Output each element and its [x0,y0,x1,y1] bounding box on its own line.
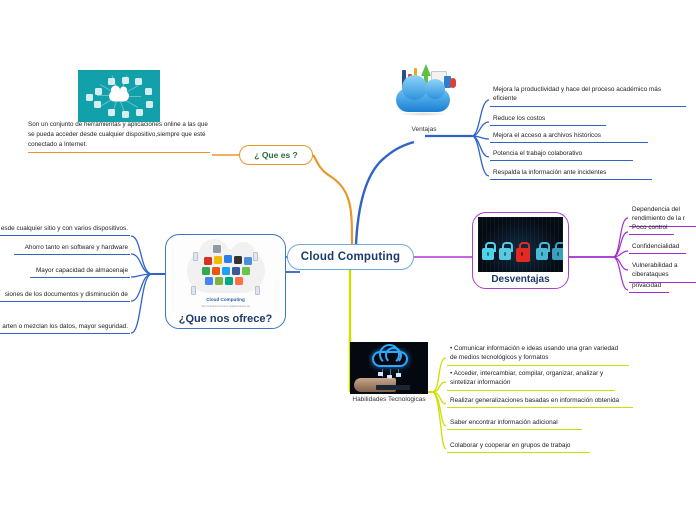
ventajas-item-5[interactable]: Respalda la información ante incidentes [490,168,652,180]
habilidades-item-3[interactable]: Realizar generalizaciones basadas en inf… [447,396,633,408]
habilidades-item-1[interactable]: • Comunicar información e ideas usando u… [447,344,629,366]
desventajas-item-3[interactable]: Confidencialidad [629,242,686,254]
ventajas-caption: Ventajas [412,126,437,133]
ventajas-item-1[interactable]: Mejora la productividad y hace del proce… [490,85,686,107]
ventajas-item-2[interactable]: Reduce los costos [490,114,606,126]
ventajas-image-node[interactable]: Ventajas [388,62,460,133]
que-nos-ofrece-item-1[interactable]: esde cualquier sitio y con varios dispos… [0,224,130,236]
red-padlock-security-image [478,217,563,272]
app-icons-cloud-image: Cloud Computing http://creativecommons.o… [171,239,281,311]
central-node[interactable]: Cloud Computing [287,244,414,270]
habilidades-image-node[interactable]: Habilidades Tecnologicas [350,342,428,403]
habilidades-item-4[interactable]: Saber encontrar información adicional [447,418,582,430]
app-image-inner-sub: http://creativecommons.org/licenses/by-s… [171,305,281,308]
habilidades-caption: Habilidades Tecnologicas [352,396,425,403]
branch-node-desventajas[interactable]: Desventajas [472,212,569,289]
ventajas-item-4[interactable]: Potencia el trabajo colaborativo [490,149,633,161]
blue-glossy-cloud-image [388,62,460,124]
branch-node-que-es[interactable]: ¿ Que es ? [239,145,313,165]
branch-node-que-nos-ofrece[interactable]: Cloud Computing http://creativecommons.o… [165,234,286,329]
teal-cloud-network-image [78,70,160,122]
habilidades-item-5[interactable]: Colaborar y cooperar en grupos de trabaj… [447,441,590,453]
que-nos-ofrece-item-2[interactable]: Ahorro tanto en software y hardware [14,243,130,255]
que-nos-ofrece-item-4[interactable]: siones de los documentos y disminución d… [0,290,130,302]
desventajas-item-5[interactable]: privacidad [629,281,669,293]
desventajas-item-4[interactable]: Vulnerabilidad a ciberataques [629,261,696,283]
desventajas-caption: Desventajas [491,274,549,285]
branch-label-que-es: ¿ Que es ? [254,150,297,160]
tablet-neon-cloud-image [350,342,428,394]
que-es-note-text: Son un conjunto de herramientas y aplica… [28,120,210,153]
ventajas-item-3[interactable]: Mejora el acceso a archivos históricos [490,131,648,143]
mindmap-canvas: Cloud Computing Son [0,0,696,520]
que-nos-ofrece-item-3[interactable]: Mayor capacidad de almacenaje [30,266,130,278]
app-image-inner-label: Cloud Computing [171,297,281,302]
central-node-label: Cloud Computing [301,251,400,263]
que-nos-ofrece-caption: ¿Que nos ofrece? [179,313,273,325]
que-nos-ofrece-item-5[interactable]: arten o mezclan los datos, mayor segurid… [0,322,130,334]
desventajas-item-2[interactable]: Poco control [629,223,674,235]
habilidades-item-2[interactable]: • Acceder, intercambiar, compilar, organ… [447,369,615,391]
que-es-image-node[interactable] [78,70,160,122]
